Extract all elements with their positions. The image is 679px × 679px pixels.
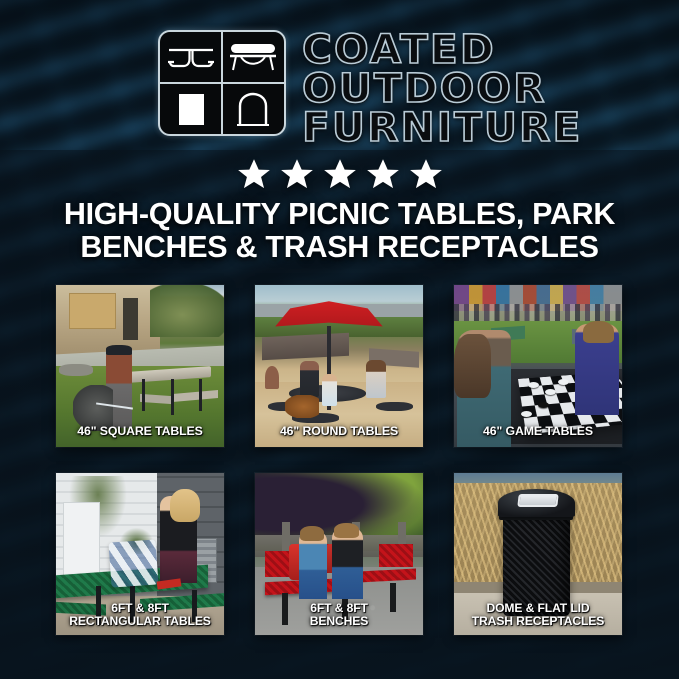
product-tile-caption: 46" ROUND TABLES	[259, 425, 419, 439]
logo-mark	[158, 30, 286, 136]
trash-receptacle-icon	[160, 83, 222, 134]
caption-line-1: 46" GAME TABLES	[458, 425, 618, 439]
product-tile-game-tables[interactable]: 46" GAME TABLES	[454, 285, 622, 447]
product-photo	[56, 285, 224, 447]
product-tile-benches[interactable]: 6FT & 8FT BENCHES	[255, 473, 423, 635]
star-icon	[280, 157, 314, 191]
caption-line-1: 46" SQUARE TABLES	[60, 425, 220, 439]
product-row-bottom: 6FT & 8FT RECTANGULAR TABLES 6	[56, 473, 624, 635]
bike-rack-arch-icon	[222, 83, 284, 134]
headline-line-2: BENCHES & TRASH RECEPTACLES	[30, 231, 649, 264]
product-tile-trash-receptacles[interactable]: DOME & FLAT LID TRASH RECEPTACLES	[454, 473, 622, 635]
star-icon	[409, 157, 443, 191]
product-photo	[255, 285, 423, 447]
product-banner: COATED OUTDOOR FURNITURE HIGH-QUALITY PI…	[0, 0, 679, 679]
product-photo	[454, 285, 622, 447]
product-tile-caption: DOME & FLAT LID TRASH RECEPTACLES	[458, 602, 618, 629]
product-tile-rectangular-tables[interactable]: 6FT & 8FT RECTANGULAR TABLES	[56, 473, 224, 635]
product-tile-round-tables[interactable]: 46" ROUND TABLES	[255, 285, 423, 447]
picnic-table-icon	[160, 32, 222, 83]
page-title: HIGH-QUALITY PICNIC TABLES, PARK BENCHES…	[30, 198, 649, 264]
product-tile-caption: 6FT & 8FT BENCHES	[259, 602, 419, 629]
star-icon	[323, 157, 357, 191]
caption-line-2: TRASH RECEPTACLES	[458, 615, 618, 629]
caption-line-2: RECTANGULAR TABLES	[60, 615, 220, 629]
product-category-grid: 46" SQUARE TABLES 46" ROUND TABLES	[56, 285, 624, 635]
caption-line-2: BENCHES	[259, 615, 419, 629]
brand-wordmark: COATED OUTDOOR FURNITURE	[302, 30, 577, 148]
brand-name-line-1: COATED	[302, 31, 582, 69]
product-row-top: 46" SQUARE TABLES 46" ROUND TABLES	[56, 285, 624, 447]
product-tile-caption: 46" SQUARE TABLES	[60, 425, 220, 439]
caption-line-1: 46" ROUND TABLES	[259, 425, 419, 439]
star-rating	[0, 157, 679, 191]
headline-line-1: HIGH-QUALITY PICNIC TABLES, PARK	[30, 198, 649, 231]
bench-icon	[222, 32, 284, 83]
star-icon	[366, 157, 400, 191]
brand-name-line-3: FURNITURE	[302, 109, 582, 147]
star-icon	[237, 157, 271, 191]
product-tile-square-tables[interactable]: 46" SQUARE TABLES	[56, 285, 224, 447]
brand-logo: COATED OUTDOOR FURNITURE	[158, 30, 577, 148]
product-tile-caption: 6FT & 8FT RECTANGULAR TABLES	[60, 602, 220, 629]
brand-name-line-2: OUTDOOR	[302, 70, 582, 108]
product-tile-caption: 46" GAME TABLES	[458, 425, 618, 439]
